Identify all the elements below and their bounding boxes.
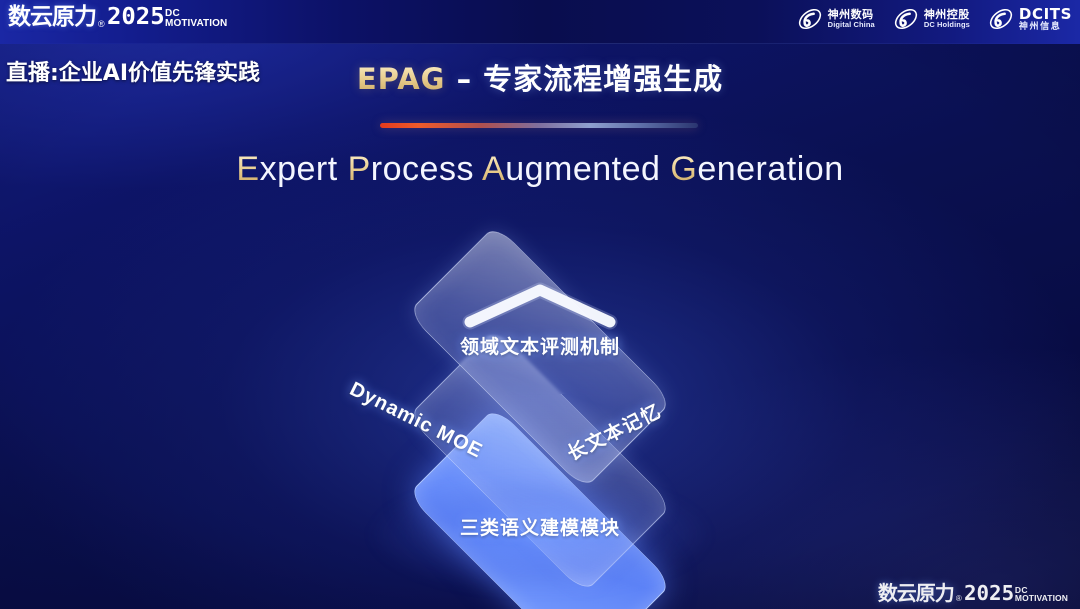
brand-cn-text: 数云原力 (878, 583, 954, 603)
brand-cn-text: 数云原力 (8, 6, 96, 29)
partner-en-label: DC Holdings (924, 21, 970, 29)
partner-en-label: 神州信息 (1019, 22, 1072, 31)
brand-logo-top: 数云原力 ® 2025 DC MOTIVATION (8, 6, 227, 29)
subtitle-expansion: Expert Process Augmented Generation (0, 150, 1080, 189)
partner-logo-dc-holdings: 神州控股 DC Holdings (893, 6, 970, 32)
title-divider (380, 123, 698, 128)
brand-registered-mark: ® (98, 20, 105, 29)
dcits-swirl-icon (988, 6, 1014, 32)
partner-en-label: Digital China (828, 21, 875, 29)
diagram-label-top: 领域文本评测机制 (430, 332, 650, 359)
title-acronym: EPAG (357, 62, 446, 96)
partner-logo-dcits: DCITS 神州信息 (988, 6, 1072, 32)
subtitle-initial-a: A (482, 150, 505, 188)
brand-year: 2025 (107, 6, 165, 29)
chevron-up-icon (460, 278, 620, 330)
title-rest: – 专家流程增强生成 (445, 62, 723, 96)
page-title: EPAG – 专家流程增强生成 (357, 56, 723, 98)
slide-stage: 数云原力 ® 2025 DC MOTIVATION 直播:企业AI价值先锋实践 … (0, 0, 1080, 609)
digital-china-swirl-icon (797, 6, 823, 32)
brand-motivation-text: MOTIVATION (1015, 594, 1068, 602)
subtitle-initial-p: P (348, 150, 371, 188)
partner-logo-digital-china: 神州数码 Digital China (797, 6, 875, 32)
live-session-title: 直播:企业AI价值先锋实践 (6, 55, 260, 87)
brand-registered-mark: ® (956, 595, 962, 603)
subtitle-word-augmented: ugmented (505, 150, 670, 188)
subtitle-word-expert: xpert (260, 150, 348, 188)
partner-logo-group: 神州数码 Digital China 神州控股 DC Holdings (797, 6, 1072, 32)
subtitle-initial-g: G (670, 150, 697, 188)
brand-logo-bottom: 数云原力 ® 2025 DC MOTIVATION (878, 583, 1068, 603)
dc-holdings-swirl-icon (893, 6, 919, 32)
subtitle-word-generation: eneration (697, 150, 843, 188)
diagram-label-bottom: 三类语义建模模块 (420, 513, 660, 540)
partner-cn-label: DCITS (1019, 7, 1072, 22)
brand-year: 2025 (964, 583, 1014, 603)
subtitle-initial-e: E (236, 150, 259, 188)
subtitle-word-process: rocess (371, 150, 482, 188)
brand-motivation-text: MOTIVATION (165, 19, 227, 29)
